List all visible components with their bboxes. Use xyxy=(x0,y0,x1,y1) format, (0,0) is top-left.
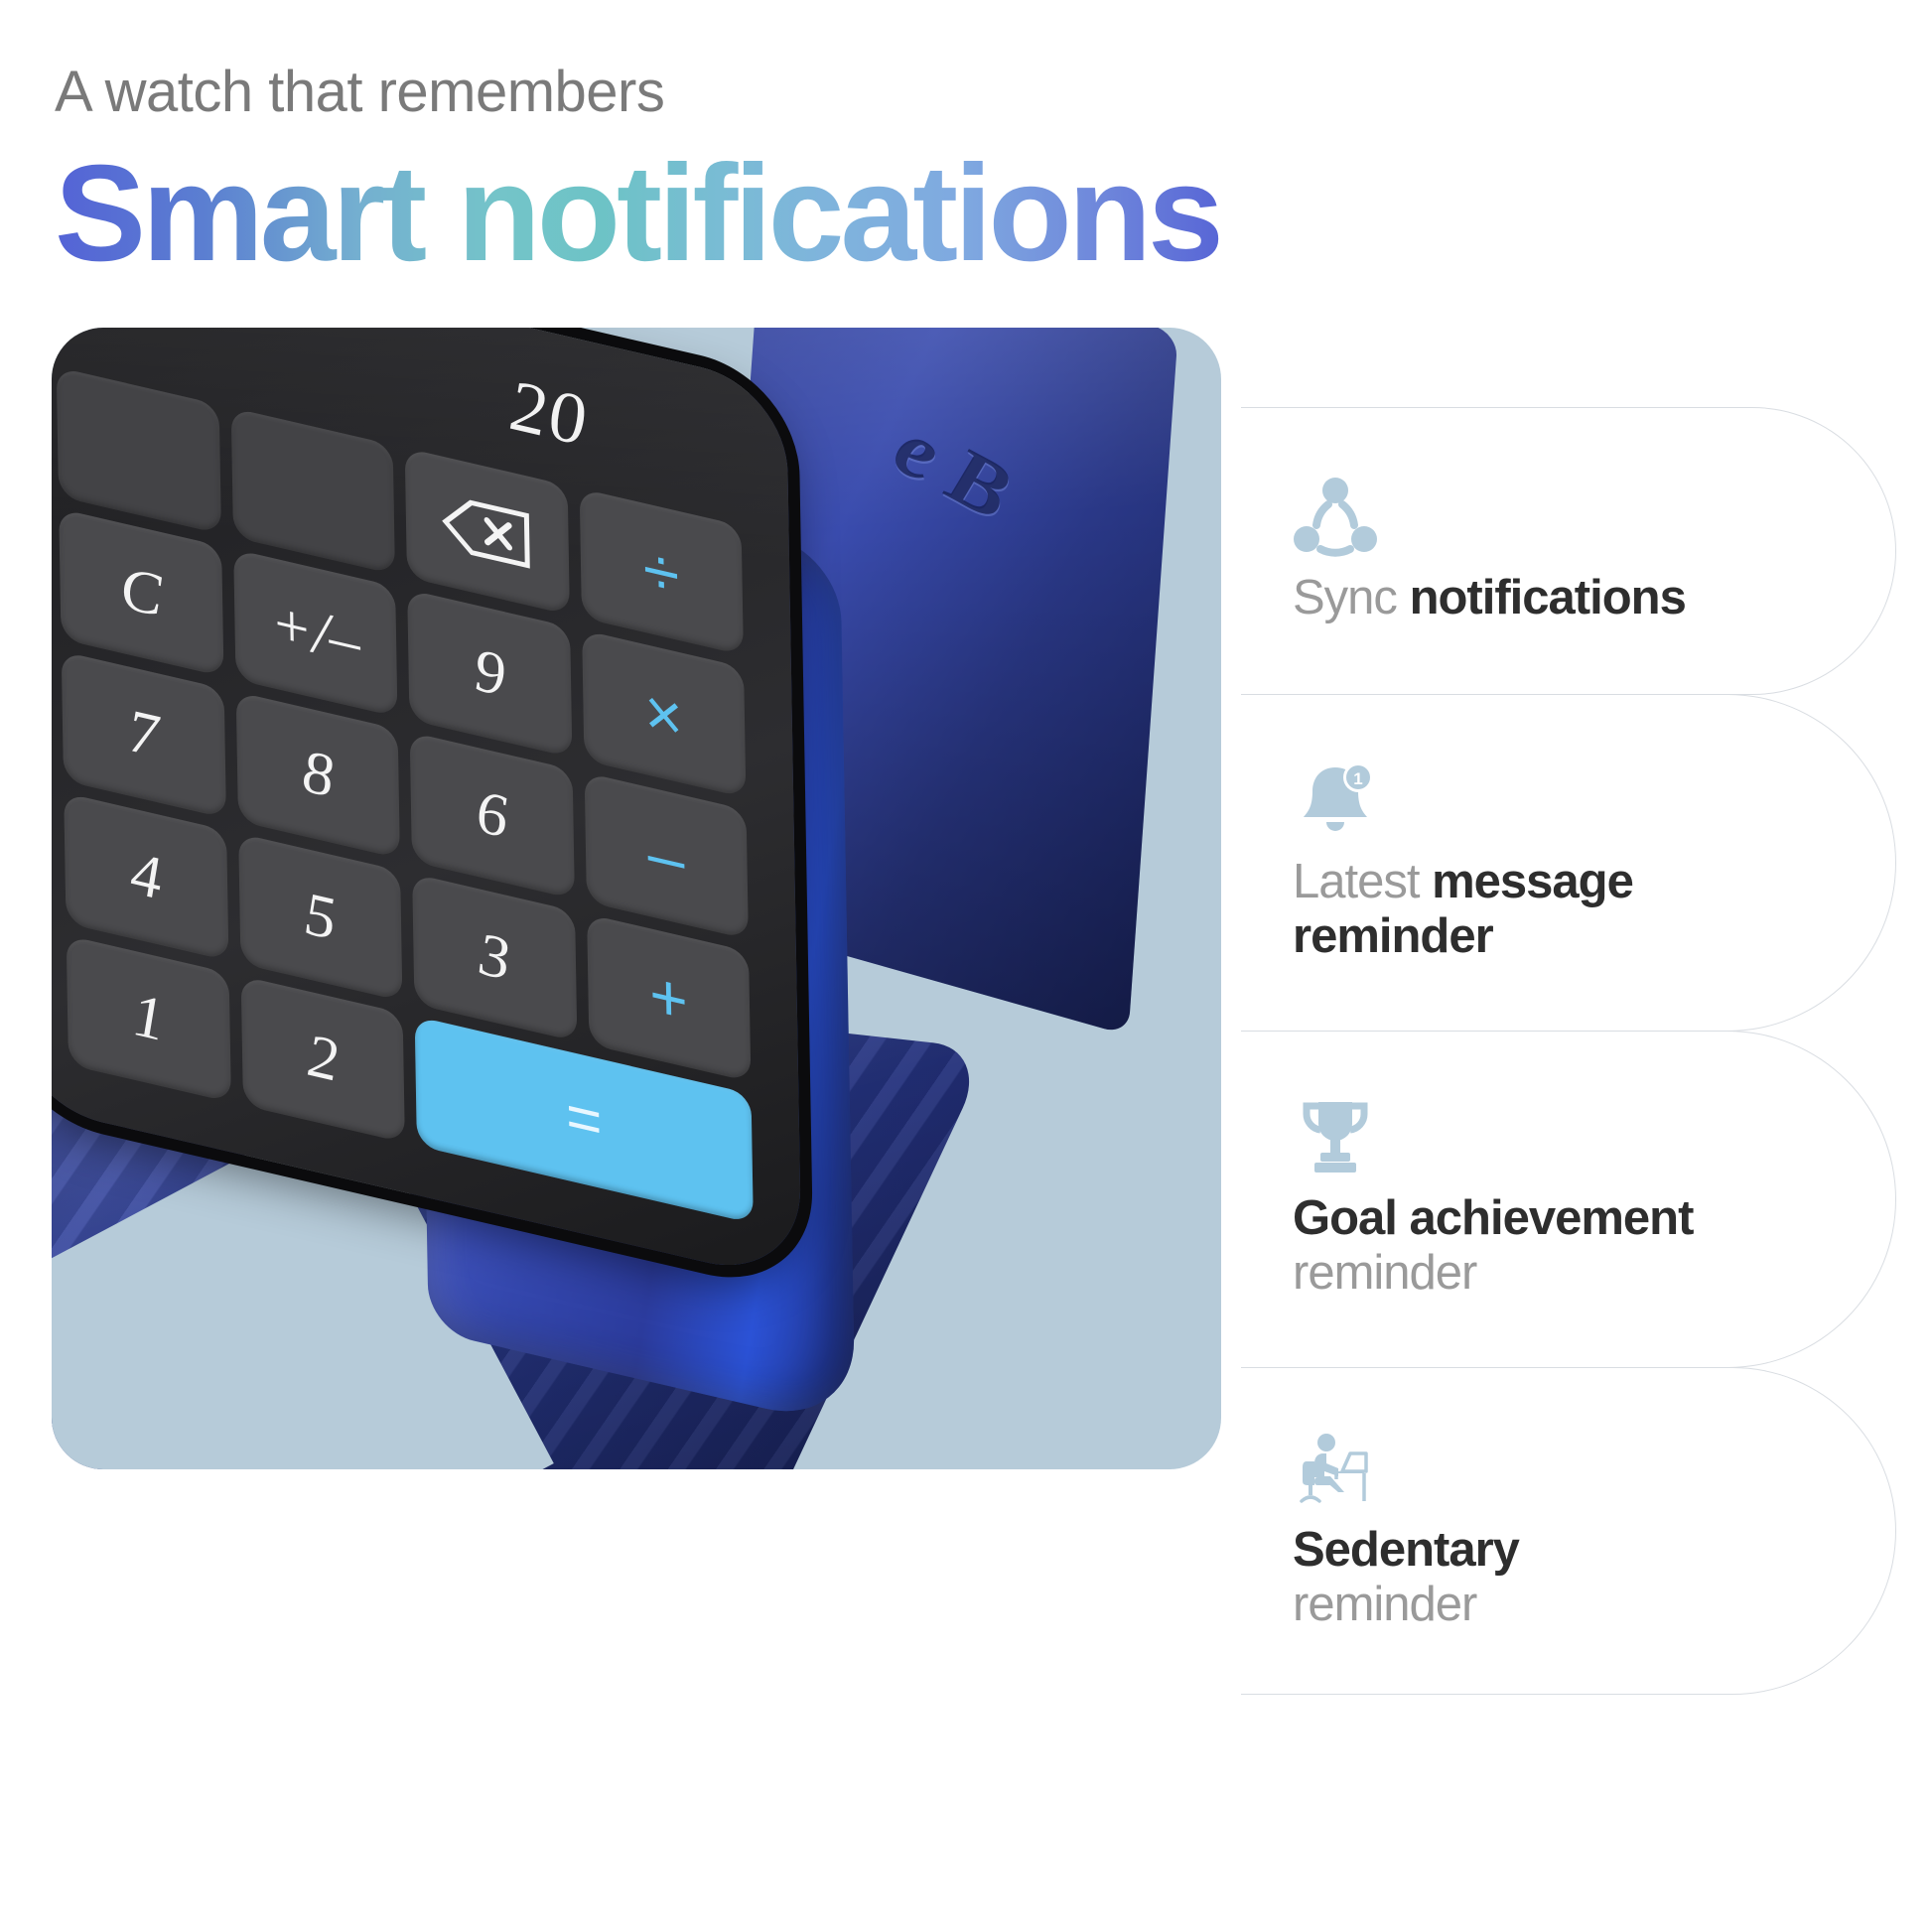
sedentary-desk-icon xyxy=(1293,1430,1836,1509)
calc-key-1[interactable]: 1 xyxy=(67,935,231,1103)
calc-key-multiply[interactable]: × xyxy=(582,630,747,798)
feature-card-latest-message-reminder[interactable]: 1 Latest message reminder xyxy=(1241,694,1896,1032)
calc-key-7[interactable]: 7 xyxy=(62,651,226,819)
feature-list: Sync notifications 1 Latest message remi… xyxy=(1241,407,1896,1694)
eyebrow-text: A watch that remembers xyxy=(55,60,1742,126)
feature-bold-sync: notifications xyxy=(1410,571,1686,624)
feature-lead-latest: Latest xyxy=(1293,855,1432,908)
calc-key-clear[interactable]: C xyxy=(59,509,223,677)
feature-label-sync: Sync notifications xyxy=(1293,571,1836,625)
calc-key-5[interactable]: 5 xyxy=(238,833,403,1001)
calc-key-8[interactable]: 8 xyxy=(235,691,400,859)
sync-share-icon xyxy=(1293,478,1836,557)
calc-key-minus[interactable]: – xyxy=(584,772,749,940)
feature-tail-sedentary: reminder xyxy=(1293,1578,1476,1631)
calc-key-sign[interactable]: +/– xyxy=(233,549,398,717)
feature-bold-sedentary: Sedentary xyxy=(1293,1523,1519,1577)
feature-label-sedentary: Sedentaryreminder xyxy=(1293,1523,1836,1632)
feature-card-sedentary-reminder[interactable]: Sedentaryreminder xyxy=(1241,1367,1896,1695)
feature-label-latest-message: Latest message reminder xyxy=(1293,855,1836,964)
product-photo: e B 20 xyxy=(52,328,1221,1469)
calc-key-2[interactable]: 2 xyxy=(240,975,405,1143)
calc-key-plus[interactable]: + xyxy=(587,914,752,1082)
feature-card-goal-achievement-reminder[interactable]: Goal achievementreminder xyxy=(1241,1031,1896,1368)
calc-key-6[interactable]: 6 xyxy=(410,732,575,899)
bell-badge-count: 1 xyxy=(1353,769,1362,788)
calc-key-4[interactable]: 4 xyxy=(64,793,228,961)
photo-scene: e B 20 xyxy=(52,328,1221,1469)
trophy-icon xyxy=(1293,1098,1836,1177)
feature-label-goal: Goal achievementreminder xyxy=(1293,1191,1836,1301)
calc-key-9[interactable]: 9 xyxy=(407,590,572,758)
bell-notification-icon: 1 xyxy=(1293,761,1836,841)
header: A watch that remembers Smart notificatio… xyxy=(55,60,1742,283)
feature-lead-sync: Sync xyxy=(1293,571,1410,624)
page-title: Smart notifications xyxy=(55,144,1220,284)
calc-key-3[interactable]: 3 xyxy=(412,874,577,1041)
backspace-icon xyxy=(441,492,533,572)
feature-card-sync-notifications[interactable]: Sync notifications xyxy=(1241,407,1896,695)
calculator-display: 20 xyxy=(509,362,588,465)
feature-tail-goal: reminder xyxy=(1293,1246,1476,1300)
feature-bold-goal: Goal achievement xyxy=(1293,1191,1693,1245)
